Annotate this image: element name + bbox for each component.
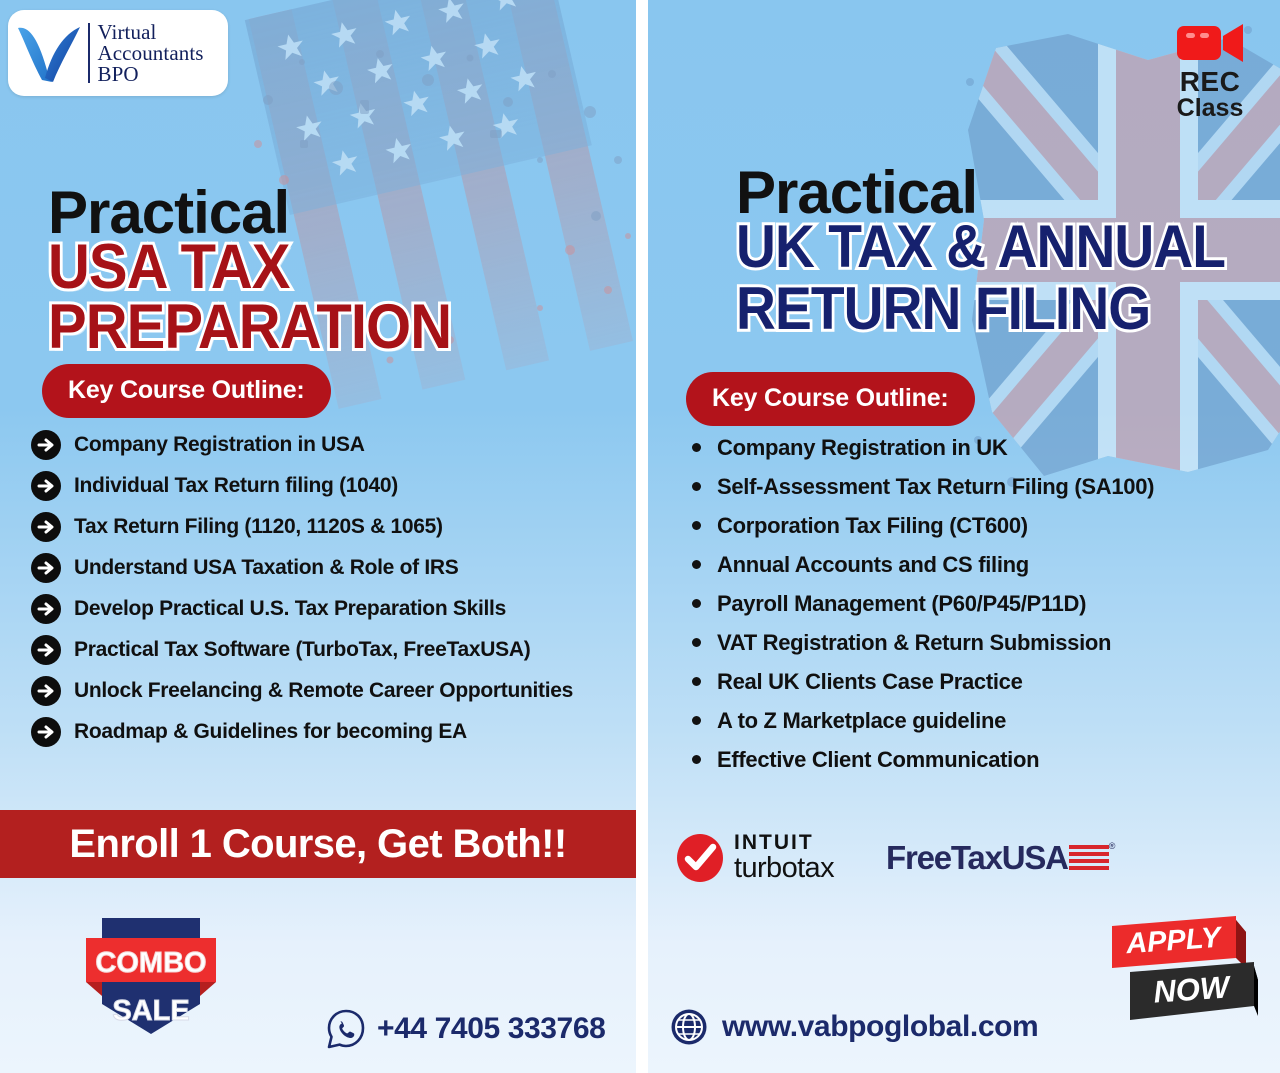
list-item: Company Registration in USA — [30, 424, 573, 465]
freetaxusa-wordmark: FreeTaxUSA — [886, 839, 1068, 877]
globe-icon — [670, 1008, 708, 1046]
list-item: Understand USA Taxation & Role of IRS — [30, 547, 573, 588]
list-item: Roadmap & Guidelines for becoming EA — [30, 711, 573, 752]
right-bullet-list: Company Registration in UK Self-Assessme… — [692, 428, 1154, 779]
logo-line-3: BPO — [98, 64, 204, 85]
list-item: Effective Client Communication — [692, 740, 1154, 779]
partner-logos: INTUIT turbotax FreeTaxUSA ® — [676, 832, 1115, 883]
list-item: Self-Assessment Tax Return Filing (SA100… — [692, 467, 1154, 506]
logo-wordmark: Virtual Accountants BPO — [98, 22, 204, 85]
list-item-label: VAT Registration & Return Submission — [717, 630, 1111, 656]
circle-arrow-right-icon — [30, 511, 62, 543]
dot-bullet-icon — [692, 482, 701, 491]
list-item: Unlock Freelancing & Remote Career Oppor… — [30, 670, 573, 711]
circle-arrow-right-icon — [30, 593, 62, 625]
combo-badge-bottom-label: SALE — [112, 995, 189, 1027]
apply-badge-line-2: NOW — [1152, 969, 1233, 1009]
left-main-title: USA TAX PREPARATION — [48, 238, 589, 358]
rec-badge-line-1: REC — [1162, 69, 1258, 95]
right-title-line-1: UK TAX & ANNUAL — [736, 213, 1225, 280]
dot-bullet-icon — [692, 638, 701, 647]
list-item-label: Unlock Freelancing & Remote Career Oppor… — [74, 679, 573, 703]
website-contact[interactable]: www.vabpoglobal.com — [670, 1008, 1038, 1046]
left-key-course-pill: Key Course Outline: — [42, 364, 331, 418]
list-item-label: Practical Tax Software (TurboTax, FreeTa… — [74, 638, 530, 662]
list-item: Individual Tax Return filing (1040) — [30, 465, 573, 506]
dot-bullet-icon — [692, 716, 701, 725]
logo-v-check-icon — [12, 22, 86, 84]
rec-badge-line-2: Class — [1162, 95, 1258, 122]
list-item-label: Self-Assessment Tax Return Filing (SA100… — [717, 474, 1154, 500]
dot-bullet-icon — [692, 560, 701, 569]
list-item: Develop Practical U.S. Tax Preparation S… — [30, 588, 573, 629]
circle-arrow-right-icon — [30, 470, 62, 502]
list-item: Practical Tax Software (TurboTax, FreeTa… — [30, 629, 573, 670]
dot-bullet-icon — [692, 443, 701, 452]
circle-arrow-right-icon — [30, 429, 62, 461]
rec-class-badge: REC Class — [1162, 22, 1258, 122]
logo-line-2: Accountants — [98, 43, 204, 64]
freetaxusa-registered-mark: ® — [1109, 841, 1116, 851]
apply-now-badge[interactable]: APPLY NOW — [1108, 908, 1258, 1038]
right-panel-uk: REC Class Practical UK TAX & ANNUAL RETU… — [648, 0, 1280, 1073]
list-item: Annual Accounts and CS filing — [692, 545, 1154, 584]
list-item: Payroll Management (P60/P45/P11D) — [692, 584, 1154, 623]
dot-bullet-icon — [692, 677, 701, 686]
list-item-label: Company Registration in UK — [717, 435, 1007, 461]
list-item: Tax Return Filing (1120, 1120S & 1065) — [30, 506, 573, 547]
panel-divider — [636, 0, 648, 1073]
turbotax-logo: INTUIT turbotax — [676, 832, 834, 883]
logo-line-1: Virtual — [98, 22, 204, 43]
right-title-line-2: RETURN FILING — [736, 280, 1225, 337]
list-item: Corporation Tax Filing (CT600) — [692, 506, 1154, 545]
list-item-label: Tax Return Filing (1120, 1120S & 1065) — [74, 515, 443, 539]
list-item-label: Individual Tax Return filing (1040) — [74, 474, 398, 498]
whatsapp-icon — [325, 1008, 367, 1050]
intuit-check-icon — [676, 834, 724, 882]
logo-divider — [88, 23, 90, 83]
list-item-label: Payroll Management (P60/P45/P11D) — [717, 591, 1086, 617]
right-key-course-pill: Key Course Outline: — [686, 372, 975, 426]
list-item-label: Real UK Clients Case Practice — [717, 669, 1023, 695]
list-item: VAT Registration & Return Submission — [692, 623, 1154, 662]
right-main-title: UK TAX & ANNUAL RETURN FILING — [736, 218, 1225, 337]
list-item-label: Company Registration in USA — [74, 433, 365, 457]
whatsapp-contact[interactable]: +44 7405 333768 — [325, 1008, 605, 1050]
list-item-label: Roadmap & Guidelines for becoming EA — [74, 720, 467, 744]
list-item-label: Corporation Tax Filing (CT600) — [717, 513, 1028, 539]
poster-canvas: Virtual Accountants BPO Practical USA TA… — [0, 0, 1280, 1073]
combo-sale-badge: COMBO SALE — [80, 912, 222, 1040]
list-item-label: Understand USA Taxation & Role of IRS — [74, 556, 458, 580]
list-item-label: Annual Accounts and CS filing — [717, 552, 1029, 578]
list-item: A to Z Marketplace guideline — [692, 701, 1154, 740]
dot-bullet-icon — [692, 599, 701, 608]
list-item-label: Effective Client Communication — [717, 747, 1039, 773]
phone-number: +44 7405 333768 — [377, 1012, 605, 1046]
circle-arrow-right-icon — [30, 716, 62, 748]
video-camera-icon — [1177, 22, 1243, 64]
turbotax-line-1: INTUIT — [734, 832, 834, 853]
website-url: www.vabpoglobal.com — [722, 1010, 1038, 1044]
apply-badge-line-1: APPLY — [1124, 922, 1224, 961]
enroll-offer-banner: Enroll 1 Course, Get Both!! — [0, 810, 636, 878]
brand-logo[interactable]: Virtual Accountants BPO — [8, 10, 228, 96]
usa-stripes-icon — [1069, 845, 1109, 871]
dot-bullet-icon — [692, 521, 701, 530]
freetaxusa-logo: FreeTaxUSA ® — [886, 839, 1115, 877]
circle-arrow-right-icon — [30, 634, 62, 666]
enroll-offer-text: Enroll 1 Course, Get Both!! — [69, 822, 566, 867]
circle-arrow-right-icon — [30, 675, 62, 707]
left-bullet-list: Company Registration in USA Individual T… — [30, 424, 573, 752]
list-item-label: Develop Practical U.S. Tax Preparation S… — [74, 597, 506, 621]
left-panel-usa: Virtual Accountants BPO Practical USA TA… — [0, 0, 636, 1073]
circle-arrow-right-icon — [30, 552, 62, 584]
turbotax-line-2: turbotax — [734, 853, 834, 883]
list-item: Real UK Clients Case Practice — [692, 662, 1154, 701]
list-item: Company Registration in UK — [692, 428, 1154, 467]
list-item-label: A to Z Marketplace guideline — [717, 708, 1006, 734]
dot-bullet-icon — [692, 755, 701, 764]
combo-badge-top-label: COMBO — [95, 947, 206, 979]
